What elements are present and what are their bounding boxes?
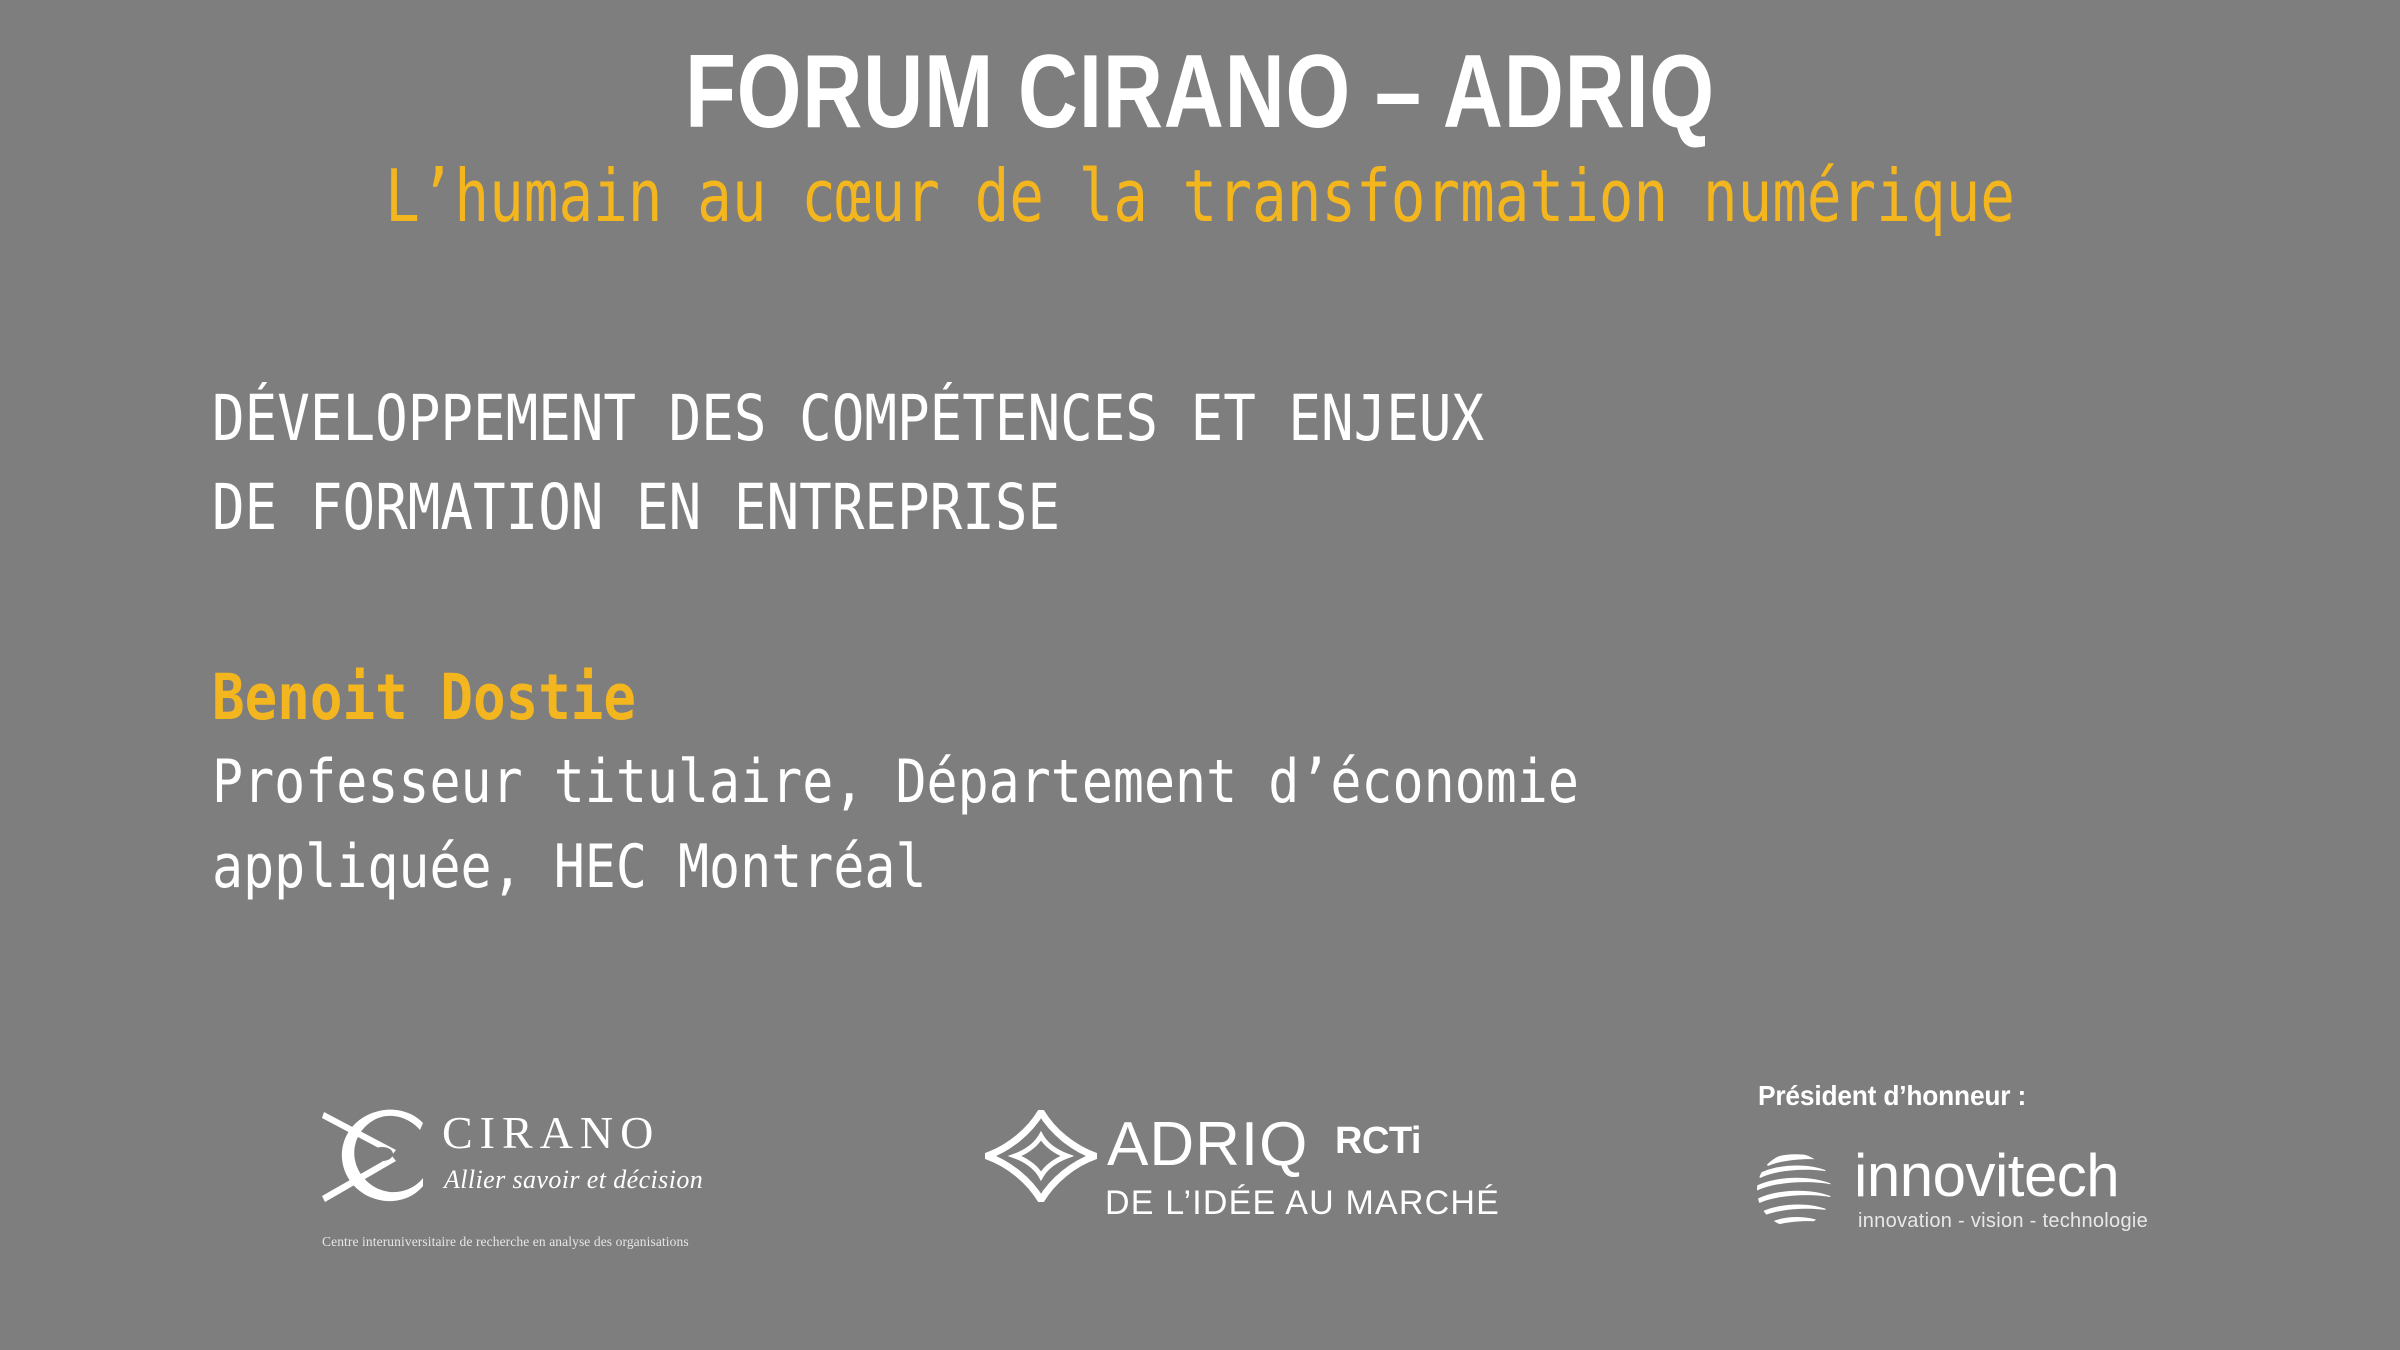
cirano-c-mark-icon xyxy=(322,1106,434,1211)
speaker-name: Benoit Dostie xyxy=(212,660,636,737)
speaker-affiliation: Professeur titulaire, Département d’écon… xyxy=(212,740,1984,910)
adriq-logo: ADRIQ RCTi DE L’IDÉE AU MARCHÉ xyxy=(985,1108,1405,1248)
event-title: FORUM CIRANO – ADRIQ xyxy=(240,38,2160,147)
event-subtitle: L’humain au cœur de la transformation nu… xyxy=(240,158,2160,236)
presentation-title: DÉVELOPPEMENT DES COMPÉTENCES ET ENJEUX … xyxy=(212,374,1984,553)
cirano-caption: Centre interuniversitaire de recherche e… xyxy=(322,1234,672,1250)
innovitech-wordmark: innovitech xyxy=(1854,1146,2119,1206)
innovitech-block: Président d’honneur : xyxy=(1750,1080,2080,1270)
speaker-affiliation-line-1: Professeur titulaire, Département d’écon… xyxy=(212,740,1984,825)
adriq-sub-brand: RCTi xyxy=(1335,1122,1421,1160)
logo-strip: CIRANO Allier savoir et décision Centre … xyxy=(0,1060,2400,1290)
cirano-logo: CIRANO Allier savoir et décision Centre … xyxy=(322,1102,672,1262)
innovitech-tagline: innovation - vision - technologie xyxy=(1858,1210,2148,1233)
adriq-tagline: DE L’IDÉE AU MARCHÉ xyxy=(1105,1184,1500,1223)
presentation-title-line-2: DE FORMATION EN ENTREPRISE xyxy=(212,463,1984,552)
innovitech-logo: innovitech innovation - vision - technol… xyxy=(1750,1142,2080,1262)
speaker-affiliation-line-2: appliquée, HEC Montréal xyxy=(212,825,1984,910)
president-honoraire-label: Président d’honneur : xyxy=(1758,1080,2026,1112)
adriq-wordmark: ADRIQ xyxy=(1107,1114,1308,1176)
cirano-tagline: Allier savoir et décision xyxy=(444,1165,674,1195)
presentation-slide: FORUM CIRANO – ADRIQ L’humain au cœur de… xyxy=(0,0,2400,1350)
cirano-wordmark: CIRANO xyxy=(442,1110,660,1156)
adriq-diamond-mark-icon xyxy=(985,1110,1097,1207)
presentation-title-line-1: DÉVELOPPEMENT DES COMPÉTENCES ET ENJEUX xyxy=(212,374,1984,463)
innovitech-globe-mark-icon xyxy=(1750,1144,1842,1241)
